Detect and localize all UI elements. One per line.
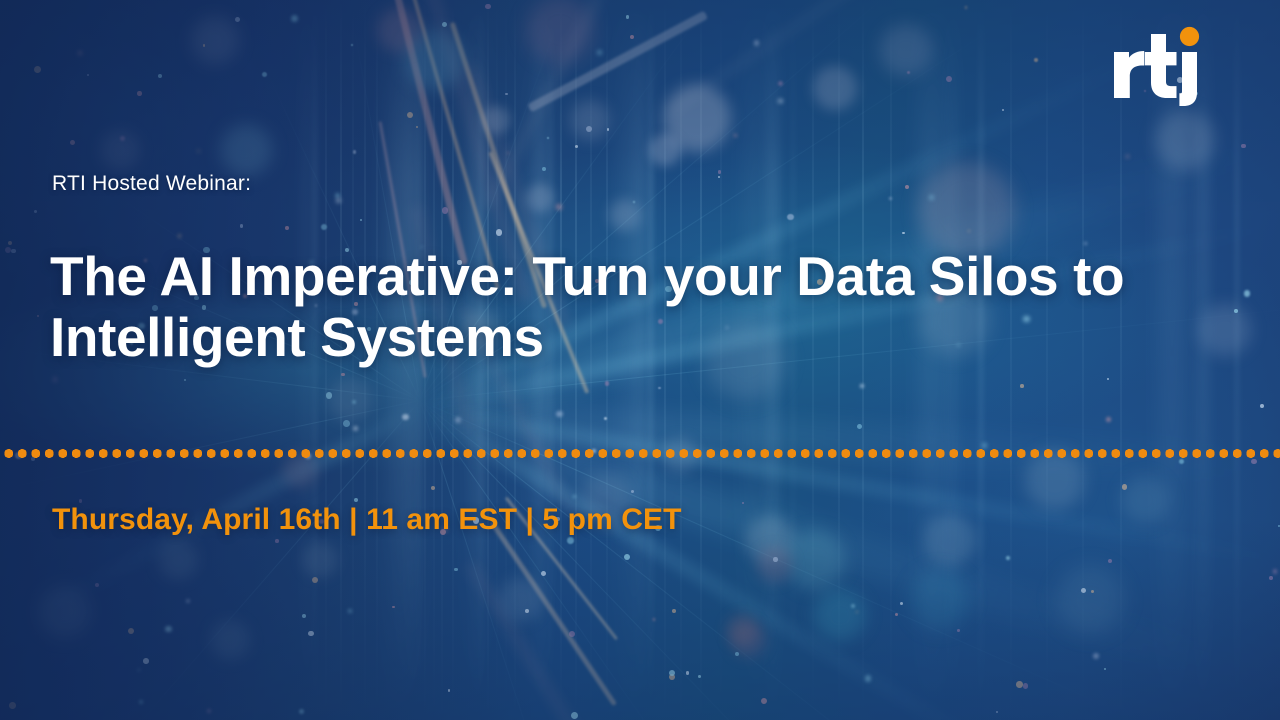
rti-logo xyxy=(1110,26,1206,106)
slide-title: The AI Imperative: Turn your Data Silos … xyxy=(50,246,1230,367)
title-line-1: The AI Imperative: Turn your Data Silos … xyxy=(50,246,1230,307)
dotted-divider xyxy=(0,449,1280,458)
webinar-datetime: Thursday, April 16th | 11 am EST | 5 pm … xyxy=(52,503,682,537)
logo-dot-icon xyxy=(1180,27,1199,46)
slide-content: RTI Hosted Webinar: The AI Imperative: T… xyxy=(0,0,1280,720)
logo-letter-i xyxy=(1179,52,1197,106)
title-line-2: Intelligent Systems xyxy=(50,307,1230,368)
webinar-slide: RTI Hosted Webinar: The AI Imperative: T… xyxy=(0,0,1280,720)
logo-letter-r xyxy=(1114,51,1144,98)
logo-letter-t xyxy=(1145,34,1177,98)
eyebrow-label: RTI Hosted Webinar: xyxy=(52,172,251,196)
